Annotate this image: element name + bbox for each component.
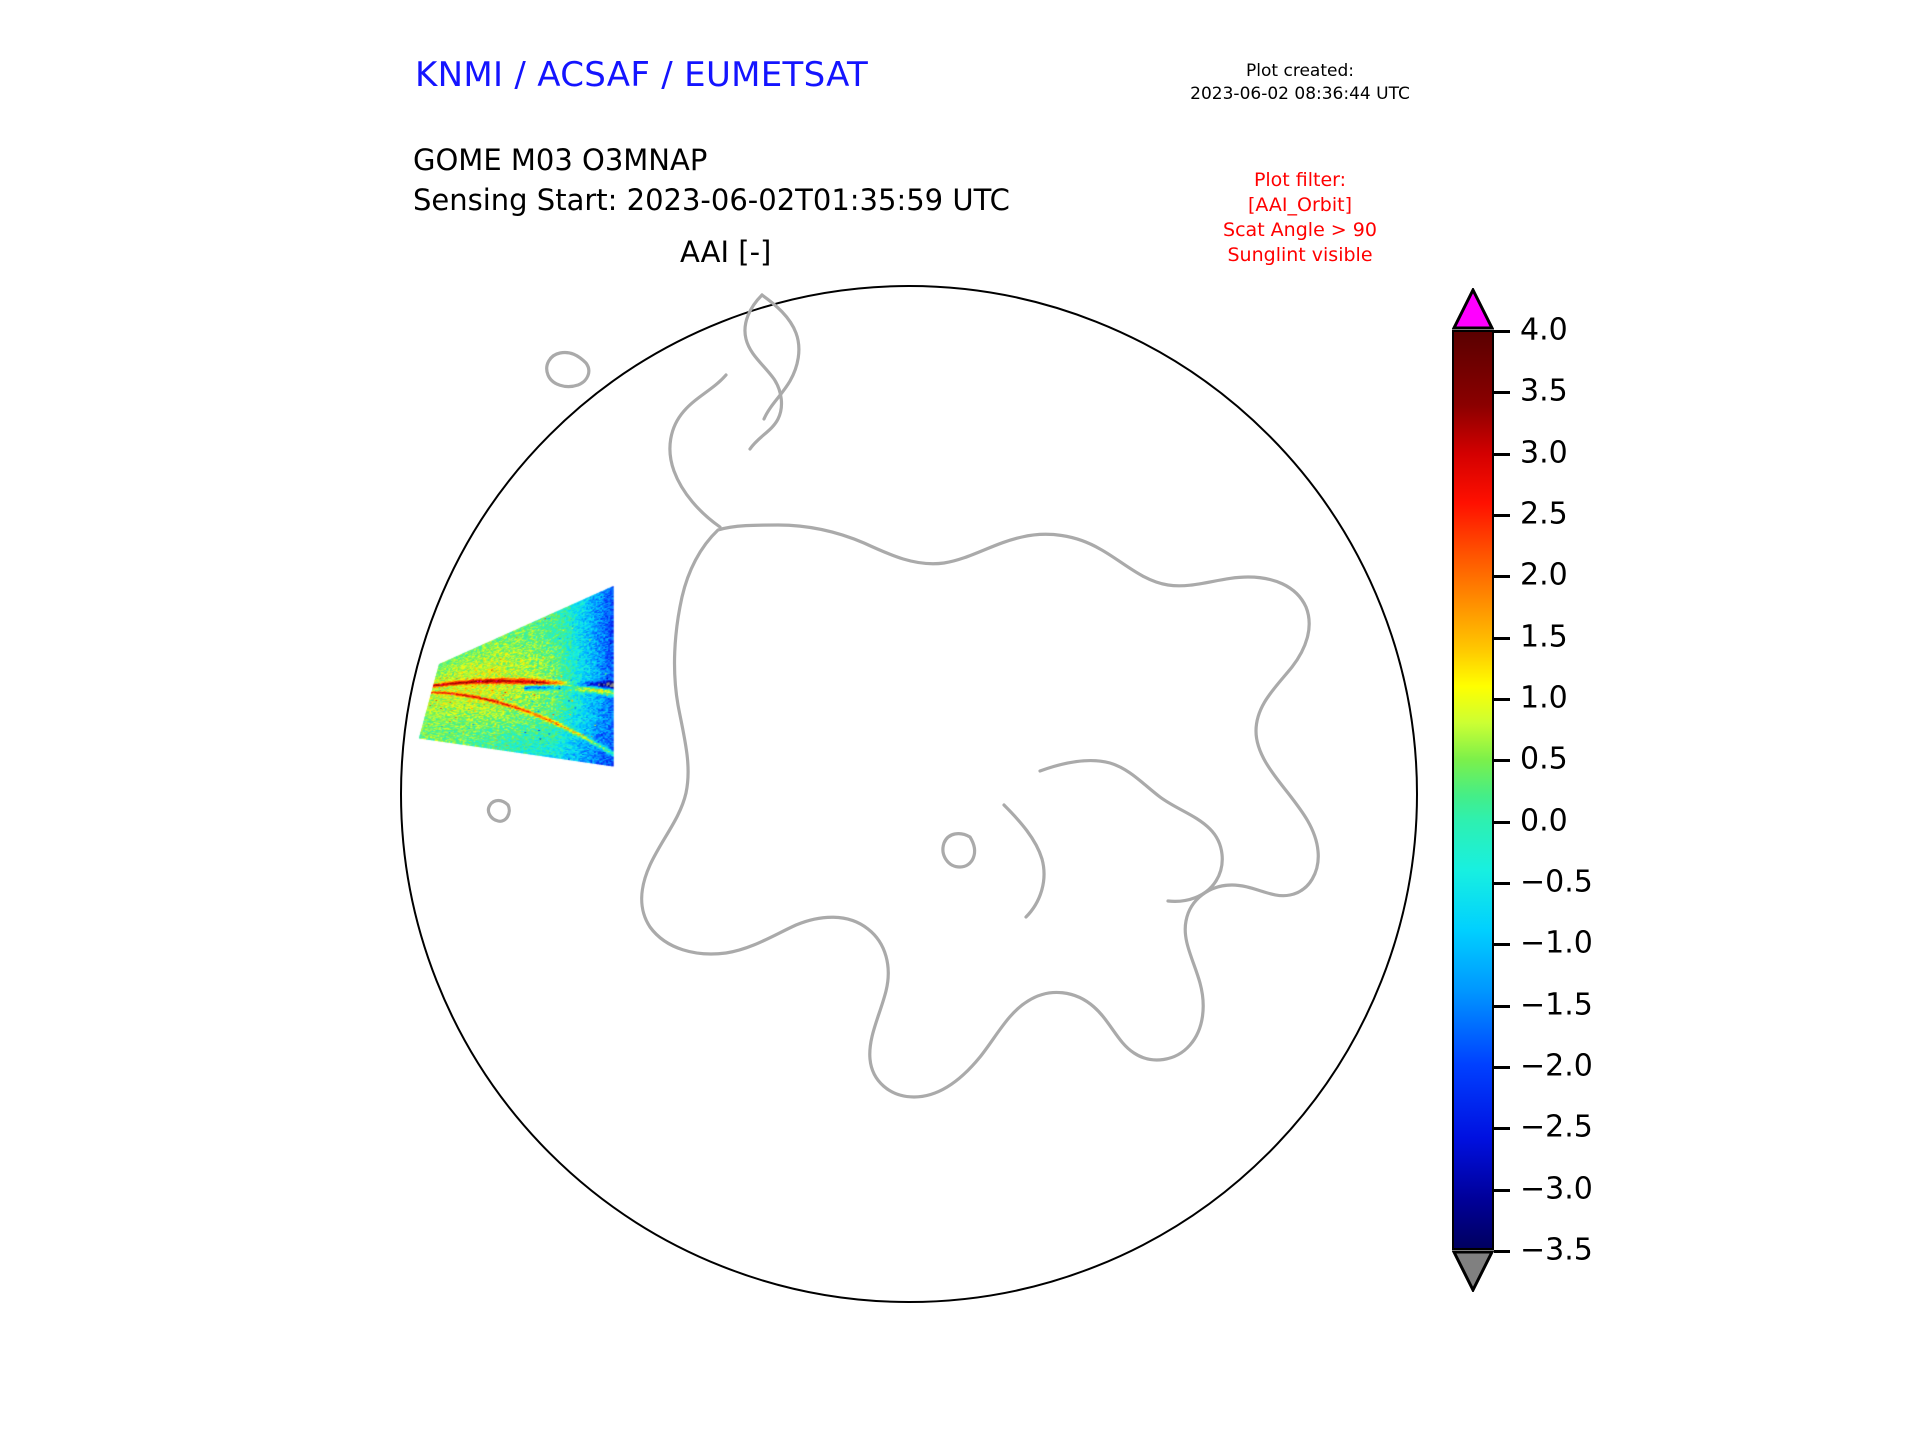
colorbar-over-cap bbox=[1452, 288, 1494, 330]
colorbar-tick bbox=[1494, 821, 1510, 824]
colorbar-tick-label: 0.0 bbox=[1520, 803, 1568, 838]
colorbar-tick-label: −3.0 bbox=[1520, 1171, 1593, 1206]
colorbar-tick-label: 2.0 bbox=[1520, 558, 1568, 593]
colorbar-tick-label: 1.5 bbox=[1520, 619, 1568, 654]
sensing-start: Sensing Start: 2023-06-02T01:35:59 UTC bbox=[413, 180, 1010, 220]
polar-map bbox=[400, 285, 1430, 1315]
colorbar-tick-label: −3.5 bbox=[1520, 1233, 1593, 1268]
colorbar-gradient bbox=[1452, 330, 1494, 1250]
colorbar-tick-label: −1.0 bbox=[1520, 926, 1593, 961]
colorbar-tick-label: 0.5 bbox=[1520, 742, 1568, 777]
colorbar-tick bbox=[1494, 1250, 1510, 1253]
colorbar-under-cap bbox=[1452, 1250, 1494, 1292]
quantity-title: AAI [-] bbox=[680, 235, 771, 269]
colorbar-tick bbox=[1494, 330, 1510, 333]
colorbar-tick bbox=[1494, 1189, 1510, 1192]
colorbar-tick bbox=[1494, 575, 1510, 578]
filter-line: Plot filter: bbox=[1180, 168, 1420, 193]
colorbar-tick-label: 3.0 bbox=[1520, 435, 1568, 470]
colorbar-tick bbox=[1494, 391, 1510, 394]
colorbar-tick bbox=[1494, 1005, 1510, 1008]
filter-line: Sunglint visible bbox=[1180, 243, 1420, 268]
colorbar-tick bbox=[1494, 1066, 1510, 1069]
colorbar-tick bbox=[1494, 453, 1510, 456]
colorbar-tick-label: −2.0 bbox=[1520, 1049, 1593, 1084]
colorbar-tick bbox=[1494, 1127, 1510, 1130]
colorbar-tick bbox=[1494, 637, 1510, 640]
colorbar-tick-label: 3.5 bbox=[1520, 374, 1568, 409]
colorbar-tick bbox=[1494, 759, 1510, 762]
colorbar-tick-label: 1.0 bbox=[1520, 681, 1568, 716]
colorbar-tick bbox=[1494, 882, 1510, 885]
colorbar-tick-label: −0.5 bbox=[1520, 865, 1593, 900]
plot-created-value: 2023-06-02 08:36:44 UTC bbox=[1160, 83, 1440, 106]
filter-line: [AAI_Orbit] bbox=[1180, 193, 1420, 218]
colorbar-tick-label: 2.5 bbox=[1520, 497, 1568, 532]
colorbar-tick-label: −1.5 bbox=[1520, 987, 1593, 1022]
aai-swath-data bbox=[400, 285, 1430, 1315]
plot-created-label: Plot created: bbox=[1160, 60, 1440, 83]
dataset-title-block: GOME M03 O3MNAP Sensing Start: 2023-06-0… bbox=[413, 140, 1010, 220]
colorbar-tick bbox=[1494, 698, 1510, 701]
plot-filter-block: Plot filter: [AAI_Orbit] Scat Angle > 90… bbox=[1180, 168, 1420, 268]
colorbar-tick-label: 4.0 bbox=[1520, 313, 1568, 348]
colorbar-tick bbox=[1494, 943, 1510, 946]
filter-line: Scat Angle > 90 bbox=[1180, 218, 1420, 243]
colorbar-tick bbox=[1494, 514, 1510, 517]
colorbar-tick-label: −2.5 bbox=[1520, 1110, 1593, 1145]
colorbar: 4.03.53.02.52.01.51.00.50.0−0.5−1.0−1.5−… bbox=[1452, 288, 1782, 1298]
plot-created-block: Plot created: 2023-06-02 08:36:44 UTC bbox=[1160, 60, 1440, 106]
dataset-name: GOME M03 O3MNAP bbox=[413, 140, 1010, 180]
organisation-title: KNMI / ACSAF / EUMETSAT bbox=[415, 55, 868, 95]
